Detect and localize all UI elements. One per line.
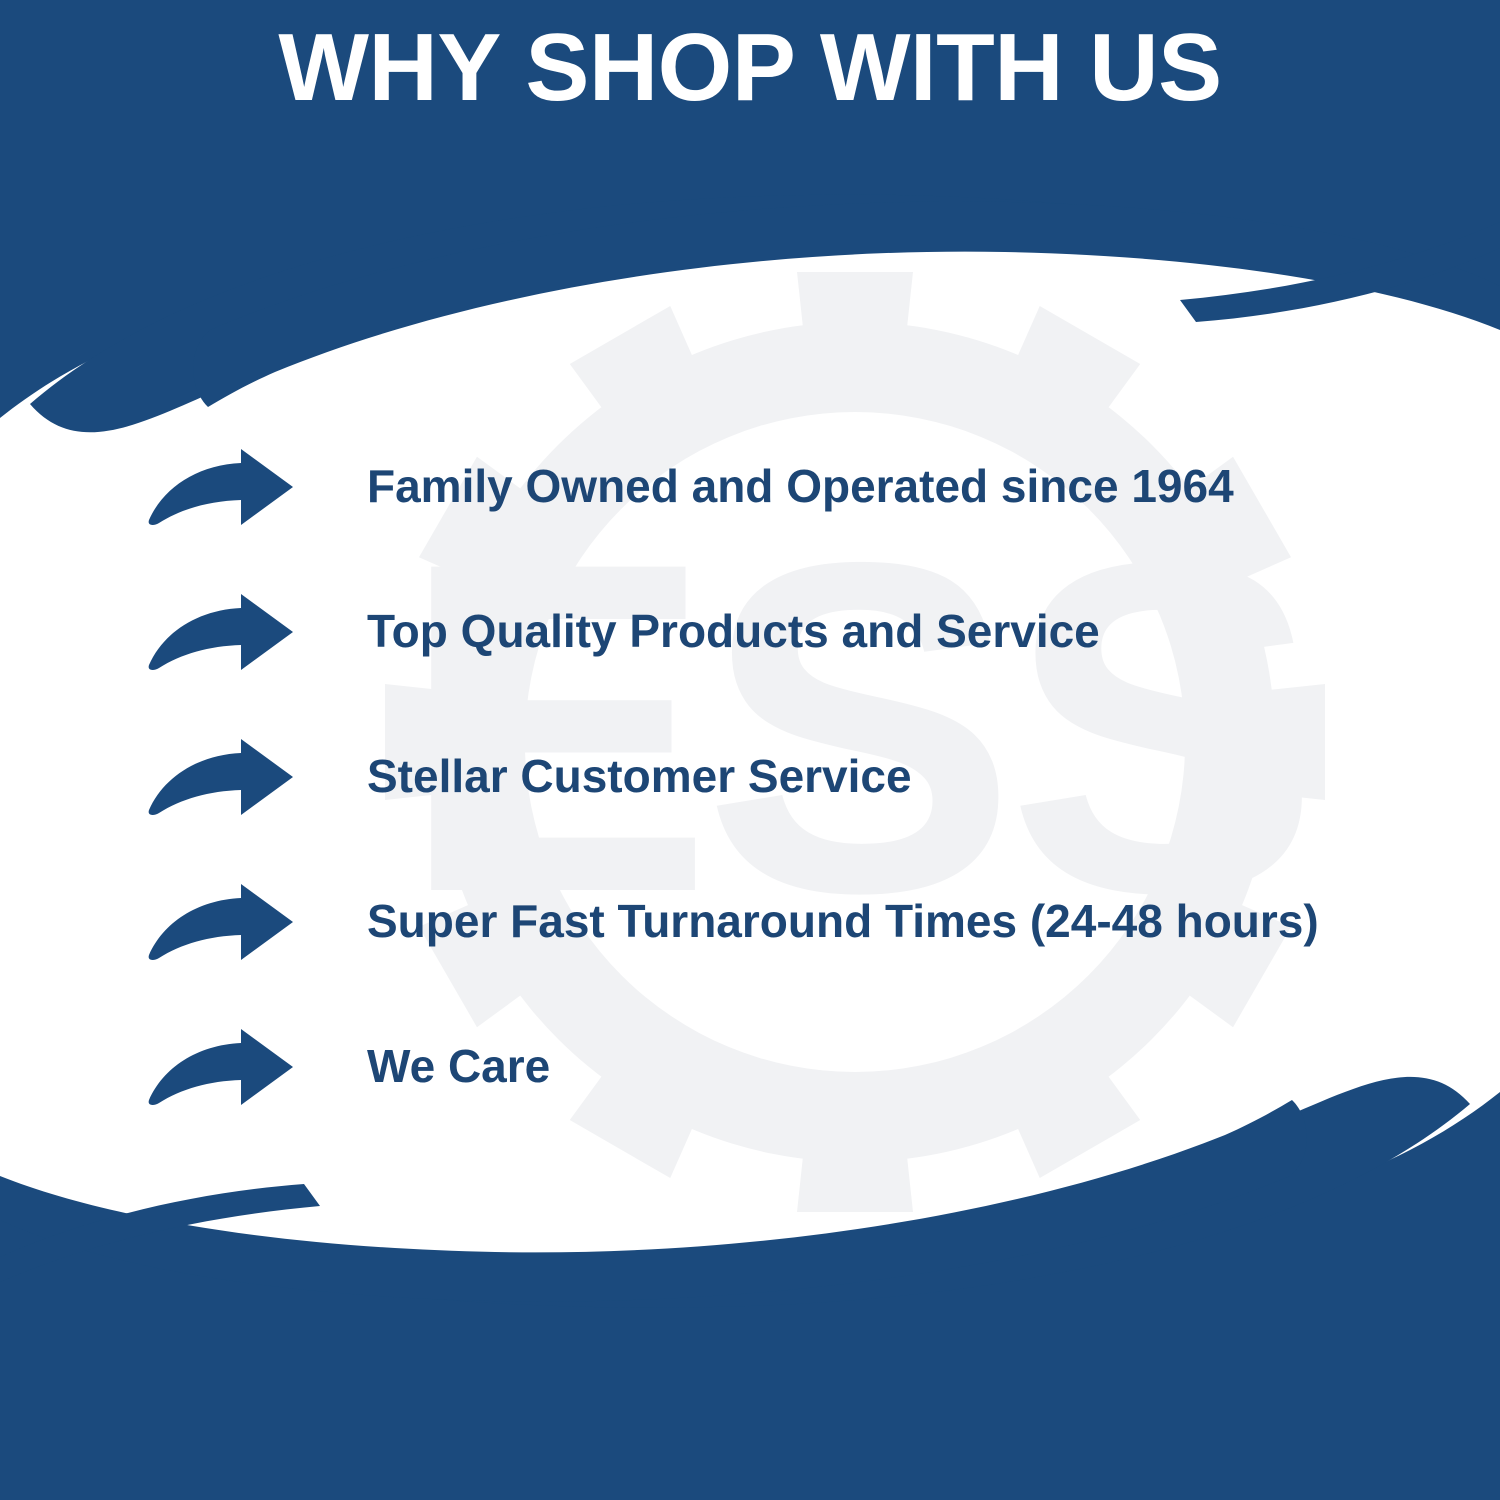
list-item: Super Fast Turnaround Times (24-48 hours… <box>145 867 1445 977</box>
list-item-label: We Care <box>367 1041 1445 1093</box>
bottom-blue-band-right <box>0 1100 1307 1302</box>
list-item-label: Top Quality Products and Service <box>367 606 1445 658</box>
curved-arrow-right-icon <box>145 447 297 527</box>
list-item: Top Quality Products and Service <box>145 577 1445 687</box>
benefits-list: Family Owned and Operated since 1964 Top… <box>145 432 1445 1122</box>
curved-arrow-right-icon <box>145 592 297 672</box>
list-item-label: Stellar Customer Service <box>367 751 1445 803</box>
bottom-hairline-tail <box>0 1184 320 1282</box>
top-hairline-tail <box>1180 222 1500 322</box>
top-thin-accent-left <box>30 195 1210 433</box>
page-title: WHY SHOP WITH US <box>0 20 1500 116</box>
list-item: We Care <box>145 1012 1445 1122</box>
list-item: Stellar Customer Service <box>145 722 1445 832</box>
list-item-label: Super Fast Turnaround Times (24-48 hours… <box>367 896 1445 948</box>
top-blue-band-right <box>193 201 1500 407</box>
list-item-label: Family Owned and Operated since 1964 <box>367 461 1445 513</box>
curved-arrow-right-icon <box>145 737 297 817</box>
promo-banner: ESS WHY SHOP WITH US Family Owned and Op… <box>0 0 1500 1500</box>
curved-arrow-right-icon <box>145 1027 297 1107</box>
list-item: Family Owned and Operated since 1964 <box>145 432 1445 542</box>
curved-arrow-right-icon <box>145 882 297 962</box>
bottom-blue-shape <box>0 1092 1500 1500</box>
